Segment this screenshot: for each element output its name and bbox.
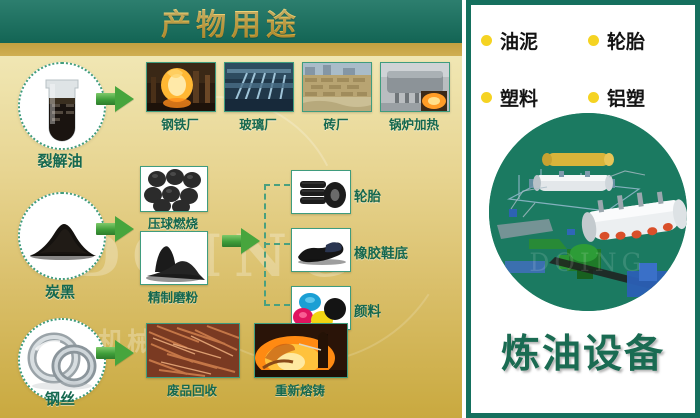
branch-bracket-line-soles — [264, 243, 290, 245]
bullet-item-oil-sludge[interactable]: 油泥 — [481, 27, 588, 54]
branch-image-rubber-sole — [291, 228, 351, 272]
target-image-briquette-burning — [140, 166, 208, 212]
target-image-brick-factory — [302, 62, 372, 112]
source-label-carbon-black: 炭黑 — [10, 281, 110, 302]
target-image-remelting — [254, 323, 348, 378]
target-image-glass-factory — [224, 62, 294, 112]
bullet-label: 油泥 — [500, 27, 538, 54]
branch-bracket-line-tires — [264, 184, 290, 186]
branch-label-pigment: 颜料 — [354, 300, 424, 320]
bullet-item-tires[interactable]: 轮胎 — [588, 27, 695, 54]
target-label-remelting: 重新熔铸 — [254, 380, 346, 399]
target-image-scrap-recycling — [146, 323, 240, 378]
equipment-panel: 油泥 轮胎 塑料 铝塑 — [466, 0, 700, 418]
source-label-steel-wire: 钢丝 — [12, 388, 108, 409]
target-image-refined-powder — [140, 231, 208, 285]
target-image-steel-plant — [146, 62, 216, 112]
target-label-brick-factory: 砖厂 — [302, 114, 370, 133]
flow-arrow-row1 — [96, 86, 134, 112]
header-gold-strip — [0, 43, 462, 56]
branch-image-tires — [291, 170, 351, 214]
equipment-title: 炼油设备 — [471, 323, 695, 379]
branch-label-tires: 轮胎 — [354, 185, 424, 205]
page-title: 产物用途 — [0, 0, 462, 43]
bullet-dot-icon — [481, 92, 492, 103]
bullet-label: 铝塑 — [607, 84, 645, 111]
bullet-dot-icon — [481, 35, 492, 46]
branch-bracket-line-pigment — [264, 304, 290, 306]
bullet-dot-icon — [588, 92, 599, 103]
target-label-refined-powder: 精制磨粉 — [134, 287, 212, 306]
product-usage-panel: DOING 东盛机械 产物用途 裂解油 — [0, 0, 462, 418]
branch-bracket-vertical — [264, 184, 266, 306]
source-image-carbon-black — [18, 192, 106, 280]
bullet-label: 轮胎 — [607, 27, 645, 54]
infographic-canvas: DOING 东盛机械 产物用途 裂解油 — [0, 0, 700, 418]
material-bullet-grid: 油泥 轮胎 塑料 铝塑 — [481, 27, 695, 111]
target-label-glass-factory: 玻璃厂 — [224, 114, 292, 133]
branch-label-rubber-sole: 橡胶鞋底 — [354, 242, 440, 262]
bullet-item-plastic[interactable]: 塑料 — [481, 84, 588, 111]
equipment-image — [489, 113, 687, 311]
flow-arrow-row2-branch — [222, 228, 260, 254]
bullet-dot-icon — [588, 35, 599, 46]
target-label-briquette-burning: 压球燃烧 — [136, 213, 210, 232]
bullet-item-aluminum-plastic[interactable]: 铝塑 — [588, 84, 695, 111]
flow-arrow-row3 — [96, 340, 134, 366]
flow-arrow-row2 — [96, 216, 134, 242]
source-label-pyrolysis-oil: 裂解油 — [10, 150, 110, 171]
target-image-boiler-heating — [380, 62, 450, 112]
source-image-pyrolysis-oil — [18, 62, 106, 150]
bullet-label: 塑料 — [500, 84, 538, 111]
target-label-steel-plant: 钢铁厂 — [146, 114, 214, 133]
target-label-boiler-heating: 锅炉加热 — [380, 114, 448, 133]
target-label-scrap-recycling: 废品回收 — [146, 380, 238, 399]
